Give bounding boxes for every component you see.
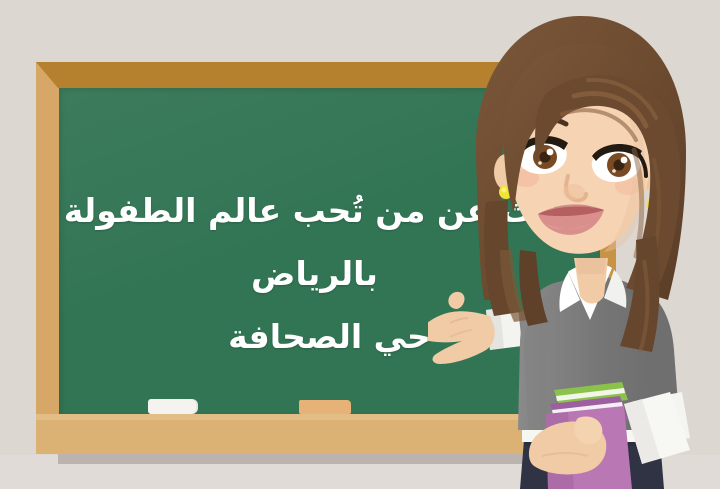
blackboard-frame-left-bevel (36, 62, 59, 454)
scene-root: نبحث عن من تُحب عالم الطفولة بالرياض حي … (0, 0, 720, 489)
board-eraser-icon (299, 400, 351, 414)
chalk-stick-icon (148, 399, 198, 414)
teacher-illustration (428, 0, 720, 489)
